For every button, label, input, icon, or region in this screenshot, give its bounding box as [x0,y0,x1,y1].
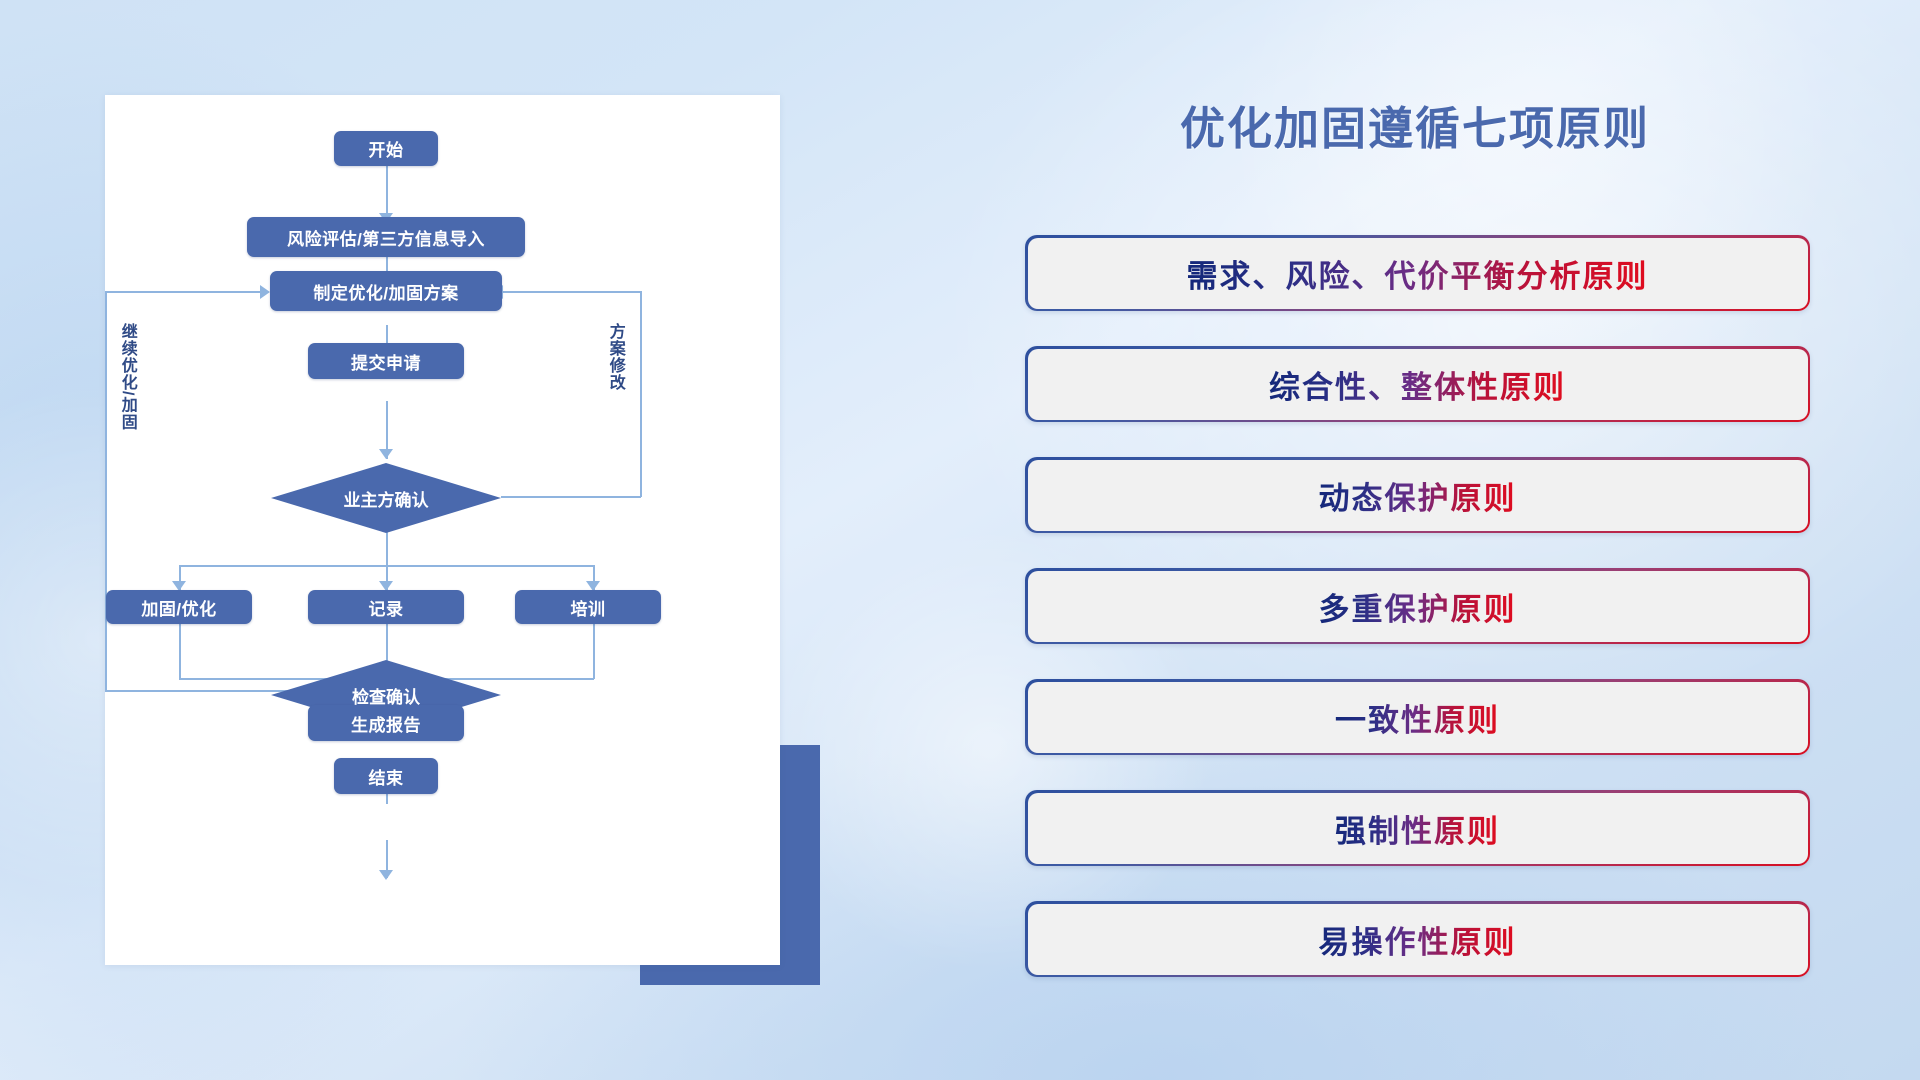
principle-card[interactable]: 需求、风险、代价平衡分析原则 [1025,235,1810,311]
flow-node-report[interactable]: 生成报告 [308,705,464,741]
connector-owner-right [501,496,641,498]
principle-label: 强制性原则 [1335,806,1500,851]
flow-node-owner-confirm-label: 业主方确认 [344,486,429,511]
flow-edge-label-continue-optimize: 继续优化/加固 [118,323,135,430]
flow-node-owner-confirm[interactable]: 业主方确认 [271,463,501,533]
principle-card-inner: 强制性原则 [1028,793,1808,864]
flow-node-plan[interactable]: 制定优化/加固方案 [270,271,502,311]
flow-node-reinforce[interactable]: 加固/优化 [106,590,252,624]
flow-node-plan-label: 制定优化/加固方案 [313,279,458,304]
connector-train-down [593,620,595,679]
principle-label: 易操作性原则 [1319,917,1517,962]
principle-label: 动态保护原则 [1319,473,1517,518]
flow-node-record-label: 记录 [369,595,404,620]
connector-reinforce-down [179,620,181,679]
flow-node-assess[interactable]: 风险评估/第三方信息导入 [247,217,525,257]
flow-node-assess-label: 风险评估/第三方信息导入 [287,225,485,250]
flow-node-record[interactable]: 记录 [308,590,464,624]
principle-card[interactable]: 动态保护原则 [1025,457,1810,533]
flowchart-panel: 开始 风险评估/第三方信息导入 制定优化/加固方案 提交申请 业主方确认 加固/… [105,95,780,965]
principle-card-inner: 综合性、整体性原则 [1028,349,1808,420]
connector-owner-down [386,532,388,566]
principle-card[interactable]: 易操作性原则 [1025,901,1810,977]
principle-card-inner: 需求、风险、代价平衡分析原则 [1028,238,1808,309]
principle-label: 综合性、整体性原则 [1269,362,1566,407]
principle-label: 一致性原则 [1335,695,1500,740]
principle-card[interactable]: 一致性原则 [1025,679,1810,755]
arrowhead-end [379,870,393,880]
connector-left-loop-to-plan [105,291,264,293]
principle-card[interactable]: 多重保护原则 [1025,568,1810,644]
principle-card[interactable]: 综合性、整体性原则 [1025,346,1810,422]
principle-card-inner: 易操作性原则 [1028,904,1808,975]
flow-node-end[interactable]: 结束 [334,758,438,794]
principle-card[interactable]: 强制性原则 [1025,790,1810,866]
flow-node-train[interactable]: 培训 [515,590,661,624]
flow-node-start-label: 开始 [369,136,404,161]
connector-left-loop-vertical [105,291,107,691]
principle-label: 多重保护原则 [1319,584,1517,629]
flow-edge-label-plan-revision: 方案修改 [606,323,623,391]
principle-card-inner: 多重保护原则 [1028,571,1808,642]
principle-card-inner: 一致性原则 [1028,682,1808,753]
flow-node-report-label: 生成报告 [351,711,421,736]
flow-node-submit-label: 提交申请 [351,349,421,374]
flow-node-reinforce-label: 加固/优化 [141,595,216,620]
arrowhead-plan-from-left [260,285,270,299]
flow-node-end-label: 结束 [369,764,404,789]
flow-node-submit[interactable]: 提交申请 [308,343,464,379]
arrowhead-owner [379,449,393,459]
principle-label: 需求、风险、代价平衡分析原则 [1187,251,1649,296]
flow-node-check-confirm-label: 检查确认 [352,683,420,708]
flow-node-train-label: 培训 [571,595,606,620]
connector-right-loop-vertical [640,291,642,497]
page-title: 优化加固遵循七项原则 [1025,92,1805,157]
principle-card-inner: 动态保护原则 [1028,460,1808,531]
principles-list: 需求、风险、代价平衡分析原则 综合性、整体性原则 动态保护原则 多重保护原则 一… [1025,235,1810,1012]
flow-node-start[interactable]: 开始 [334,131,438,166]
connector-right-loop-to-plan [501,291,641,293]
